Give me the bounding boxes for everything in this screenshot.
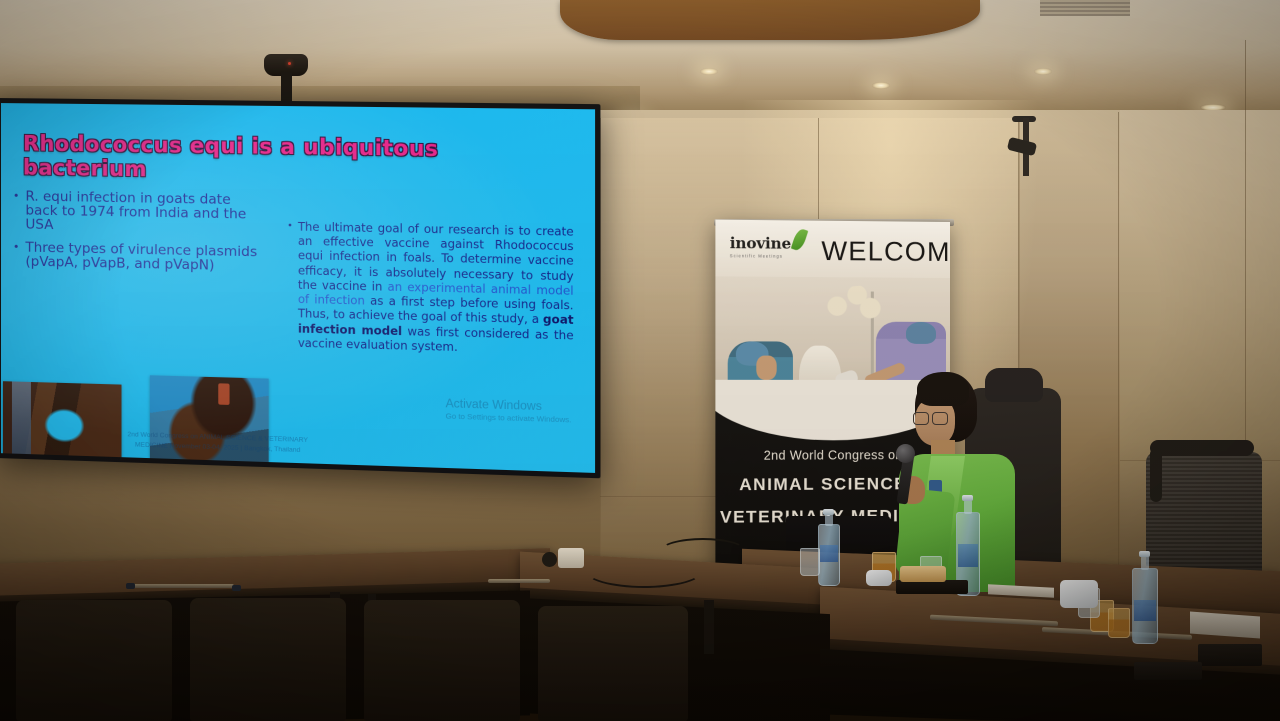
chair-post bbox=[1150, 448, 1162, 502]
downlight-3 bbox=[1034, 68, 1052, 75]
inovine-logo: inovine Scientific Meetings bbox=[730, 234, 791, 259]
cable-trim bbox=[488, 579, 550, 583]
bullet-dot-icon: • bbox=[13, 240, 19, 268]
bullet-text: R. equi infection in goats date back to … bbox=[25, 189, 266, 236]
bullet-dot-icon: • bbox=[13, 189, 19, 231]
tablet-device[interactable] bbox=[1134, 662, 1202, 680]
audience-chair[interactable] bbox=[190, 598, 346, 721]
windows-activation-watermark: Activate Windows Go to Settings to activ… bbox=[446, 398, 572, 424]
snack-pile bbox=[900, 566, 946, 582]
slide-canvas: Rhodococcus equi is a ubiquitous bacteri… bbox=[1, 103, 595, 473]
eyeglasses-icon bbox=[913, 412, 949, 423]
tea-glass[interactable] bbox=[1108, 608, 1130, 638]
banner-header: inovine Scientific Meetings WELCOME bbox=[715, 220, 950, 278]
slide-title: Rhodococcus equi is a ubiquitous bacteri… bbox=[23, 131, 572, 188]
water-bottle[interactable] bbox=[1132, 568, 1158, 644]
surgical-lamp-icon bbox=[822, 284, 884, 330]
audience-chair[interactable] bbox=[16, 600, 172, 721]
audience-chair[interactable] bbox=[364, 600, 520, 721]
bottle-cap bbox=[1139, 551, 1150, 557]
downlight-1 bbox=[700, 68, 718, 75]
list-item: • Three types of virulence plasmids (pVa… bbox=[13, 240, 267, 273]
microphone-head-icon bbox=[896, 444, 915, 463]
bottle-label bbox=[958, 544, 978, 567]
cable-trim-cap bbox=[232, 585, 241, 591]
notepad[interactable] bbox=[1198, 644, 1262, 666]
wall-seam bbox=[1118, 112, 1119, 572]
bottle-cap bbox=[962, 495, 973, 501]
bottle-neck bbox=[825, 514, 833, 526]
table-leg bbox=[704, 600, 714, 654]
cable-trim-cap bbox=[126, 583, 135, 589]
drinking-glass[interactable] bbox=[800, 548, 820, 576]
slide-bullet-list: • R. equi infection in goats date back t… bbox=[13, 189, 267, 283]
conference-room-scene: Rhodococcus equi is a ubiquitous bacteri… bbox=[0, 0, 1280, 721]
bottle-neck bbox=[964, 500, 972, 514]
welcome-heading: WELCOME bbox=[821, 236, 950, 268]
cable-grommet bbox=[542, 552, 557, 567]
nurse-face bbox=[756, 356, 776, 380]
audience-chair[interactable] bbox=[538, 606, 688, 721]
list-item: • R. equi infection in goats date back t… bbox=[13, 189, 267, 236]
downlight-2 bbox=[872, 82, 890, 89]
logo-wordmark: inovine bbox=[730, 234, 791, 253]
bottle-cap bbox=[823, 509, 834, 515]
slide-image-foal-standing bbox=[150, 375, 269, 473]
bottle-label bbox=[1134, 600, 1156, 621]
napkin bbox=[1060, 580, 1098, 608]
bottle-neck bbox=[1141, 556, 1149, 570]
cable-trim bbox=[132, 584, 234, 588]
napkin bbox=[866, 570, 892, 586]
speaker-led-indicator bbox=[288, 62, 291, 65]
power-outlet-box[interactable] bbox=[558, 548, 584, 568]
bottle-label bbox=[820, 545, 838, 562]
speaker-fringe bbox=[917, 372, 969, 406]
paragraph-body: The ultimate goal of our research is to … bbox=[298, 220, 574, 358]
presentation-display[interactable]: Rhodococcus equi is a ubiquitous bacteri… bbox=[0, 98, 600, 478]
power-cable bbox=[660, 538, 746, 564]
surgical-cap bbox=[906, 322, 936, 344]
chair-armrest bbox=[1150, 440, 1254, 456]
wood-ceiling-panel bbox=[560, 0, 980, 40]
bullet-dot-icon: • bbox=[287, 220, 292, 351]
bullet-text: Three types of virulence plasmids (pVapA… bbox=[25, 241, 266, 274]
leaf-icon bbox=[791, 227, 809, 252]
logo-tagline: Scientific Meetings bbox=[730, 253, 791, 259]
air-vent-icon bbox=[1040, 0, 1130, 16]
slide-paragraph: • The ultimate goal of our research is t… bbox=[287, 220, 573, 358]
water-bottle[interactable] bbox=[818, 524, 840, 586]
snack-tray[interactable] bbox=[896, 580, 968, 594]
